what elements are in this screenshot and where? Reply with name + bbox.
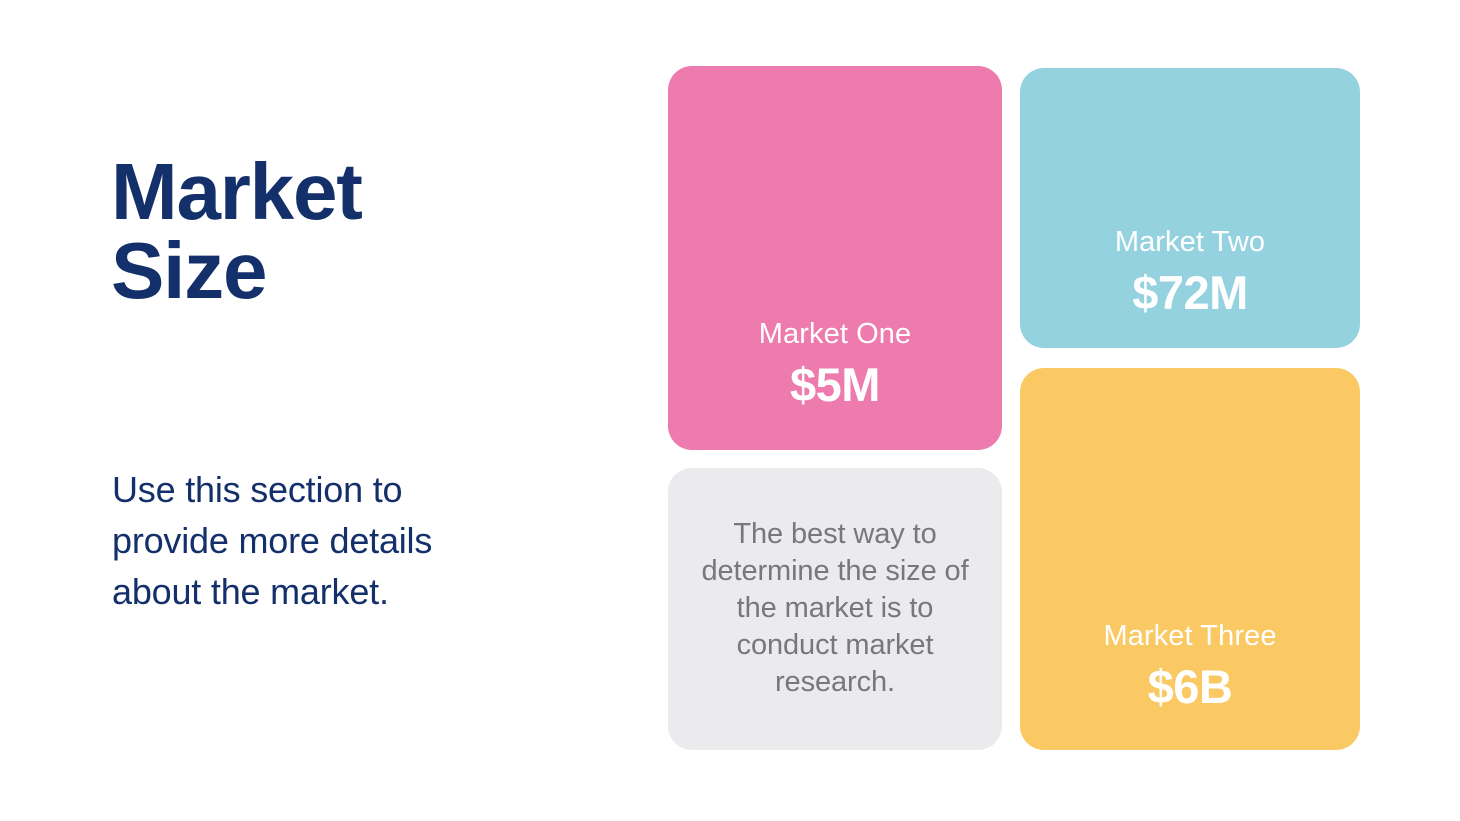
market-note-card[interactable]: The best way to determine the size of th…: [668, 468, 1002, 750]
market-card-one-label: Market One: [686, 316, 984, 352]
market-card-grid: Market One $5M Market Two $72M The best …: [668, 66, 1360, 750]
market-card-one[interactable]: Market One $5M: [668, 66, 1002, 450]
market-card-two-value: $72M: [1038, 265, 1342, 320]
market-note-text: The best way to determine the size of th…: [668, 516, 1002, 702]
market-card-two-label: Market Two: [1038, 224, 1342, 260]
slide-canvas: Market Size Use this section to provide …: [0, 0, 1460, 821]
slide-description: Use this section to provide more details…: [112, 464, 512, 617]
market-card-two-content: Market Two $72M: [1020, 224, 1360, 320]
market-card-one-content: Market One $5M: [668, 316, 1002, 412]
page-title: Market Size: [111, 152, 581, 310]
market-card-three-label: Market Three: [1038, 618, 1342, 654]
market-card-two[interactable]: Market Two $72M: [1020, 68, 1360, 348]
market-card-three[interactable]: Market Three $6B: [1020, 368, 1360, 750]
market-card-one-value: $5M: [686, 357, 984, 412]
market-card-three-value: $6B: [1038, 659, 1342, 714]
left-text-column: Market Size Use this section to provide …: [111, 0, 581, 821]
market-card-three-content: Market Three $6B: [1020, 618, 1360, 714]
